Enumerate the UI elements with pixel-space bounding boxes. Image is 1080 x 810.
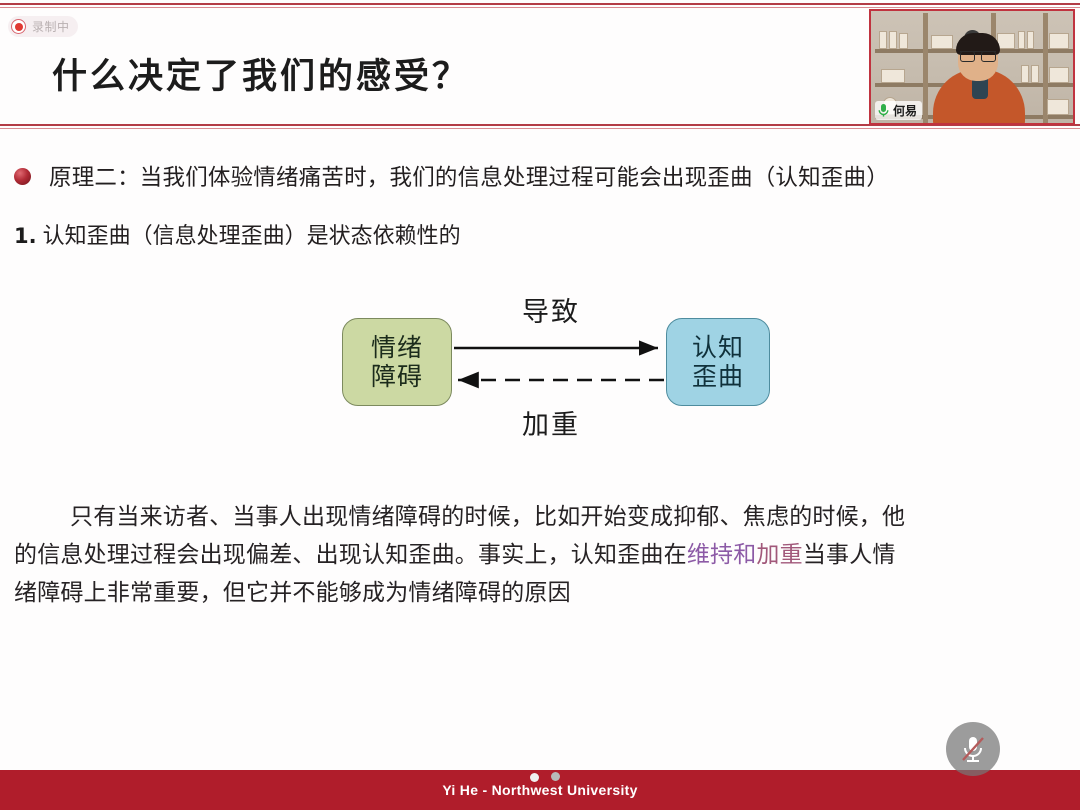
narration-paragraph: 只有当来访者、当事人出现情绪障碍的时候，比如开始变成抑郁、焦虑的时候，他 的信息… <box>14 498 1070 612</box>
shelf-book <box>889 31 897 49</box>
participant-glasses <box>960 51 996 60</box>
footer-bar: Yi He - Northwest University <box>0 770 1080 810</box>
paragraph-highlight-maintain: 维持和 <box>687 542 757 568</box>
node-left-line2: 障碍 <box>371 362 423 392</box>
recording-badge-label: 录制中 <box>32 18 70 35</box>
numbered-item-marker: 1. <box>14 224 37 248</box>
top-rule-inner <box>0 7 1080 8</box>
header-rule-inner <box>0 128 1080 129</box>
record-dot-icon <box>11 19 26 34</box>
footer-dot-left <box>530 773 539 782</box>
gem-bullet-icon <box>14 168 31 185</box>
shelf-box <box>931 35 953 49</box>
participant-name: 何易 <box>893 102 917 119</box>
participant-name-chip: 何易 <box>875 101 922 120</box>
footer-dot-right <box>551 772 560 781</box>
footer-text: Yi He - Northwest University <box>442 782 637 798</box>
paragraph-line-2-part-b: 当事人情 <box>803 542 896 568</box>
shelf-book <box>1047 99 1069 115</box>
shelf-book <box>1021 65 1029 83</box>
shelf-book <box>899 33 908 49</box>
diagram-node-cognitive-distortion: 认知 歪曲 <box>666 318 770 406</box>
cycle-diagram: 情绪 障碍 认知 歪曲 导致 加重 <box>330 285 780 445</box>
node-left-line1: 情绪 <box>371 333 423 363</box>
shelf-book <box>1018 31 1025 49</box>
mute-toggle-button[interactable] <box>946 722 1000 776</box>
paragraph-line-2: 的信息处理过程会出现偏差、出现认知歪曲。事实上，认知歪曲在维持和加重当事人情 <box>14 536 1070 574</box>
microphone-muted-icon <box>958 733 988 765</box>
diagram-node-emotional-disorder: 情绪 障碍 <box>342 318 452 406</box>
principle-row: 原理二：当我们体验情绪痛苦时，我们的信息处理过程可能会出现歪曲（认知歪曲） <box>14 160 1074 192</box>
node-right-line1: 认知 <box>692 333 744 363</box>
participant-video-tile[interactable]: 何易 <box>869 9 1075 125</box>
paragraph-line-1: 只有当来访者、当事人出现情绪障碍的时候，比如开始变成抑郁、焦虑的时候，他 <box>14 498 1070 536</box>
node-right-line2: 歪曲 <box>692 362 744 392</box>
shelf-book <box>1027 31 1034 49</box>
record-dot-inner <box>15 23 23 31</box>
microphone-on-icon <box>877 103 890 118</box>
shelf-book <box>1049 33 1069 49</box>
shelf-book <box>879 31 887 49</box>
paragraph-highlight-aggravate: 加重 <box>756 542 802 568</box>
recording-badge: 录制中 <box>8 16 78 37</box>
meeting-screen: 录制中 什么决定了我们的感受？ 原理二：当我们体验情绪痛苦时，我们的信息处理过程… <box>0 0 1080 810</box>
shelf-post-1 <box>923 13 928 123</box>
shelf-book <box>1031 65 1039 83</box>
diagram-edge-label-aggravates: 加重 <box>522 403 580 442</box>
numbered-item-text: 认知歪曲（信息处理歪曲）是状态依赖性的 <box>43 218 461 250</box>
paragraph-line-3: 绪障碍上非常重要，但它并不能够成为情绪障碍的原因 <box>14 574 1070 612</box>
top-rule-outer <box>0 3 1080 5</box>
diagram-edge-label-causes: 导致 <box>522 290 580 329</box>
shelf-book <box>1049 67 1069 83</box>
numbered-item: 1. 认知歪曲（信息处理歪曲）是状态依赖性的 <box>14 218 461 250</box>
page-title: 什么决定了我们的感受？ <box>52 48 470 99</box>
paragraph-line-2-part-a: 的信息处理过程会出现偏差、出现认知歪曲。事实上，认知歪曲在 <box>14 542 687 568</box>
shelf-box <box>881 69 905 83</box>
principle-text: 原理二：当我们体验情绪痛苦时，我们的信息处理过程可能会出现歪曲（认知歪曲） <box>49 160 889 192</box>
